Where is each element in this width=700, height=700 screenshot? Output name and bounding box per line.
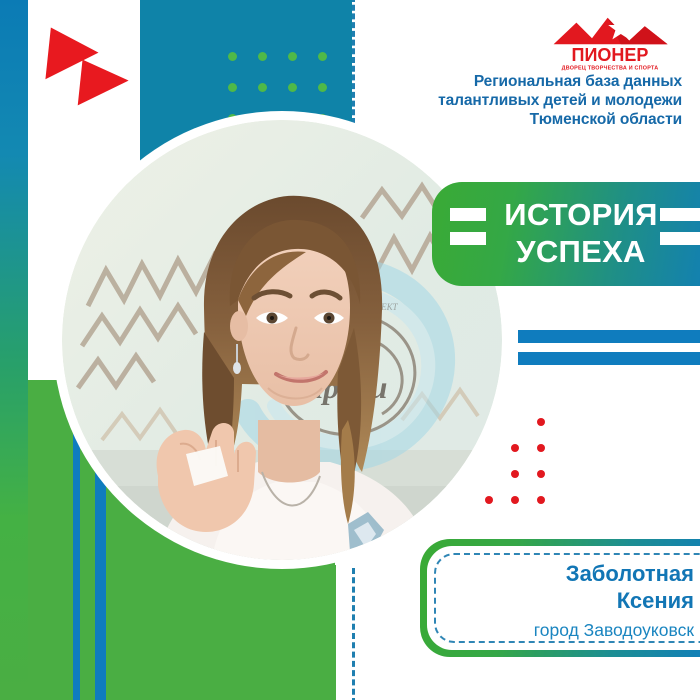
portrait-photo-illustration: ВСЕРОССИЙСКИЙ ПРОЕКТ ссные стречи — [62, 120, 502, 560]
name-card-inner: Заболотная Ксения город Заводоуковск — [427, 546, 700, 650]
ribbon-line-2: УСПЕХА — [496, 233, 666, 270]
header-line-1: Региональная база данных — [262, 72, 682, 91]
header-line-3: Тюменской области — [262, 110, 682, 129]
portrait-photo: ВСЕРОССИЙСКИЙ ПРОЕКТ ссные стречи — [62, 120, 502, 560]
green-vertical-stripe — [313, 565, 336, 700]
success-story-ribbon: ИСТОРИЯ УСПЕХА — [432, 182, 700, 286]
blue-vertical-stripe-1 — [73, 430, 80, 700]
ribbon-text: ИСТОРИЯ УСПЕХА — [496, 196, 666, 270]
header-title: Региональная база данных талантливых дет… — [262, 72, 682, 129]
portrait-photo-circle: ВСЕРОССИЙСКИЙ ПРОЕКТ ссные стречи — [62, 120, 502, 560]
blue-horizontal-bar-1 — [518, 330, 700, 343]
logo-title: ПИОНЕР — [572, 45, 649, 65]
blue-horizontal-bar-2 — [518, 352, 700, 365]
left-gradient-strip — [0, 0, 28, 700]
person-given-name: Ксения — [439, 587, 694, 614]
header-line-2: талантливых детей и молодежи — [262, 91, 682, 110]
red-dot-grid — [485, 418, 563, 522]
red-triangle-icon-2 — [78, 60, 131, 111]
poster-canvas: ВСЕРОССИЙСКИЙ ПРОЕКТ ссные стречи — [0, 0, 700, 700]
pioner-logo-icon: ПИОНЕР ДВОРЕЦ ТВОРЧЕСТВА И СПОРТА — [550, 14, 682, 72]
dashed-line-bottom — [352, 568, 355, 700]
logo: ПИОНЕР ДВОРЕЦ ТВОРЧЕСТВА И СПОРТА — [550, 14, 682, 72]
name-card: Заболотная Ксения город Заводоуковск — [420, 539, 700, 657]
ribbon-dashes-left — [450, 208, 486, 245]
person-city: город Заводоуковск — [439, 619, 694, 641]
name-card-text: Заболотная Ксения город Заводоуковск — [439, 560, 694, 641]
logo-subtitle: ДВОРЕЦ ТВОРЧЕСТВА И СПОРТА — [562, 65, 659, 71]
ribbon-dashes-right — [660, 208, 700, 245]
ribbon-line-1: ИСТОРИЯ — [496, 196, 666, 233]
person-surname: Заболотная — [439, 560, 694, 587]
